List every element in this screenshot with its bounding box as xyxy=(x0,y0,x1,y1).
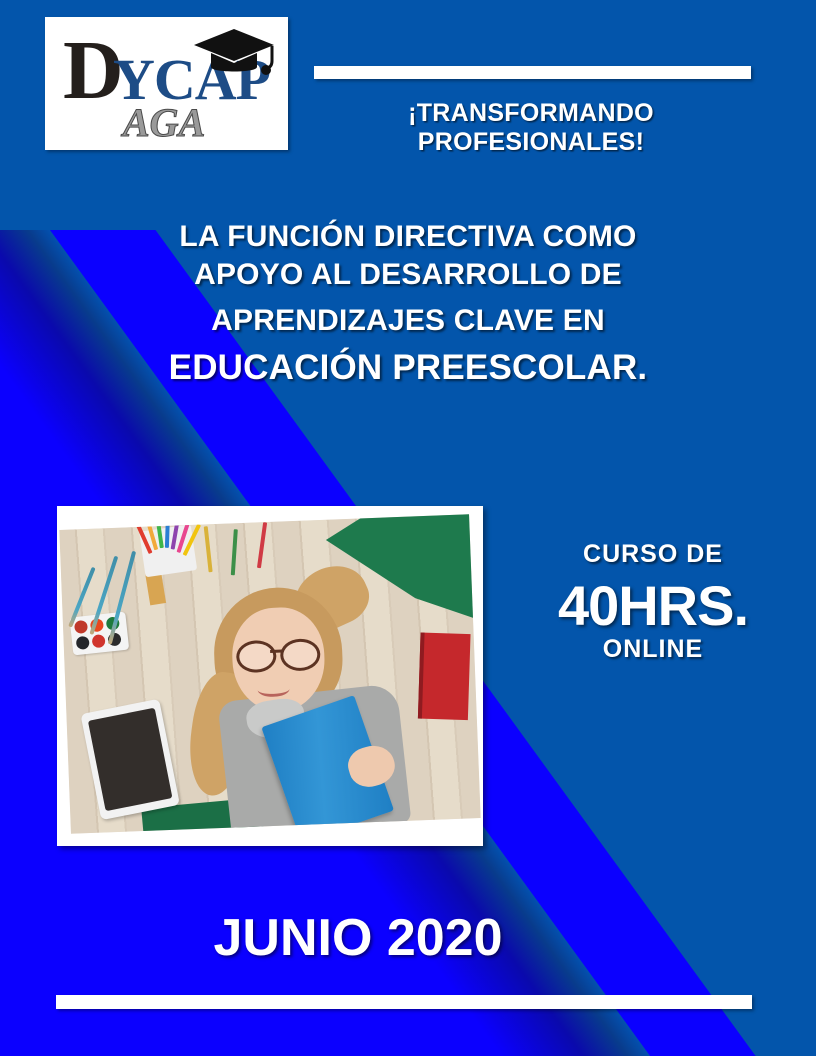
graduation-cap-icon xyxy=(193,27,275,79)
course-modality: ONLINE xyxy=(508,635,798,664)
title-line-1: LA FUNCIÓN DIRECTIVA COMO xyxy=(88,218,728,256)
eyeglasses-icon xyxy=(236,638,323,669)
course-prefix-label: CURSO DE xyxy=(508,540,798,569)
girl-illustration xyxy=(189,573,408,831)
photo-frame xyxy=(57,506,483,846)
title-line-4: EDUCACIÓN PREESCOLAR. xyxy=(88,346,728,390)
title-line-2: APOYO AL DESARROLLO DE xyxy=(88,256,728,294)
course-hours: 40HRS. xyxy=(508,575,798,637)
logo-subtext-aga: AGA xyxy=(123,103,205,143)
course-info: CURSO DE 40HRS. ONLINE xyxy=(508,540,798,664)
colored-pencils-icon xyxy=(139,514,203,555)
brand-logo: D YCAP AGA xyxy=(45,17,288,150)
tagline: ¡TRANSFORMANDO PROFESIONALES! xyxy=(296,99,766,157)
watercolor-set-icon xyxy=(69,612,129,656)
title-line-3: APRENDIZAJES CLAVE EN xyxy=(88,302,728,340)
red-book-icon xyxy=(418,633,471,721)
bottom-divider-bar xyxy=(56,995,752,1009)
page-title: LA FUNCIÓN DIRECTIVA COMO APOYO AL DESAR… xyxy=(88,218,728,390)
course-photo xyxy=(59,514,480,834)
top-divider-bar xyxy=(314,66,751,79)
course-date: JUNIO 2020 xyxy=(108,908,608,968)
course-poster: D YCAP AGA ¡TRANSFORMANDO PROFESIONALES!… xyxy=(0,0,816,1056)
